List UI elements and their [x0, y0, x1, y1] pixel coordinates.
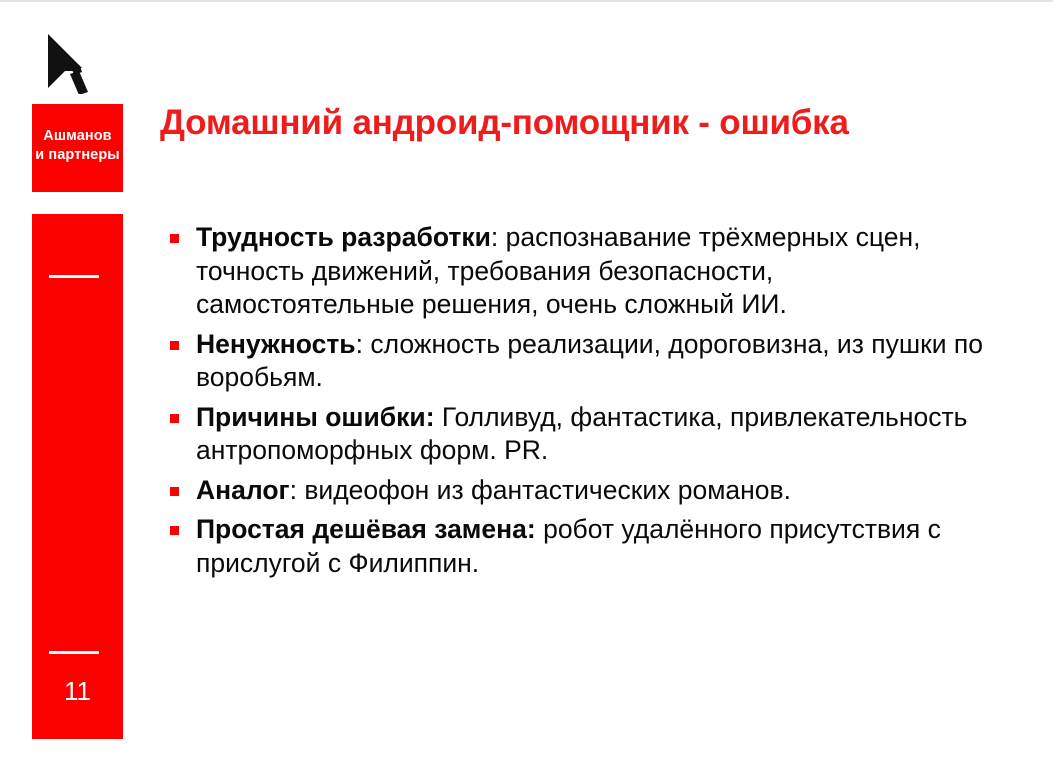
bullet-item: Трудность разработки: распознавание трёх… — [168, 221, 988, 322]
bullet-lead: Причины ошибки: — [196, 402, 435, 432]
bullet-item: Причины ошибки: Голливуд, фантастика, пр… — [168, 401, 988, 468]
sidebar-accent-bar: 11 — [32, 214, 123, 739]
bullet-marker-icon — [170, 414, 179, 423]
sidebar-rule-bottom — [49, 651, 99, 654]
bullet-marker-icon — [170, 234, 179, 243]
bullet-lead: Простая дешёвая замена: — [196, 514, 536, 544]
bullet-marker-icon — [170, 526, 179, 535]
bullet-rest: : видеофон из фантастических романов. — [290, 475, 791, 505]
bullet-item: Ненужность: сложность реализации, дорого… — [168, 328, 988, 395]
bullet-marker-icon — [170, 341, 179, 350]
company-logo-box: Ашманов и партнеры — [32, 104, 123, 192]
stylized-a-cursor-logo-icon — [38, 28, 100, 94]
bullet-lead: Ненужность — [196, 329, 356, 359]
bullet-item: Простая дешёвая замена: робот удалённого… — [168, 513, 988, 580]
company-logo-line-2: и партнеры — [32, 146, 123, 165]
bullet-item: Аналог: видеофон из фантастических роман… — [168, 474, 988, 508]
sidebar-rule-top — [49, 275, 99, 278]
bullet-lead: Аналог — [196, 475, 290, 505]
company-logo-line-1: Ашманов — [32, 127, 123, 146]
slide-title: Домашний андроид-помощник - ошибка — [160, 102, 1020, 144]
bullet-marker-icon — [170, 487, 179, 496]
company-logo-text: Ашманов и партнеры — [32, 127, 123, 165]
bullet-lead: Трудность разработки — [196, 222, 491, 252]
bullet-list: Трудность разработки: распознавание трёх… — [168, 221, 988, 586]
presentation-slide: Ашманов и партнеры 11 Домашний андроид-п… — [0, 0, 1053, 768]
page-number: 11 — [32, 676, 123, 706]
